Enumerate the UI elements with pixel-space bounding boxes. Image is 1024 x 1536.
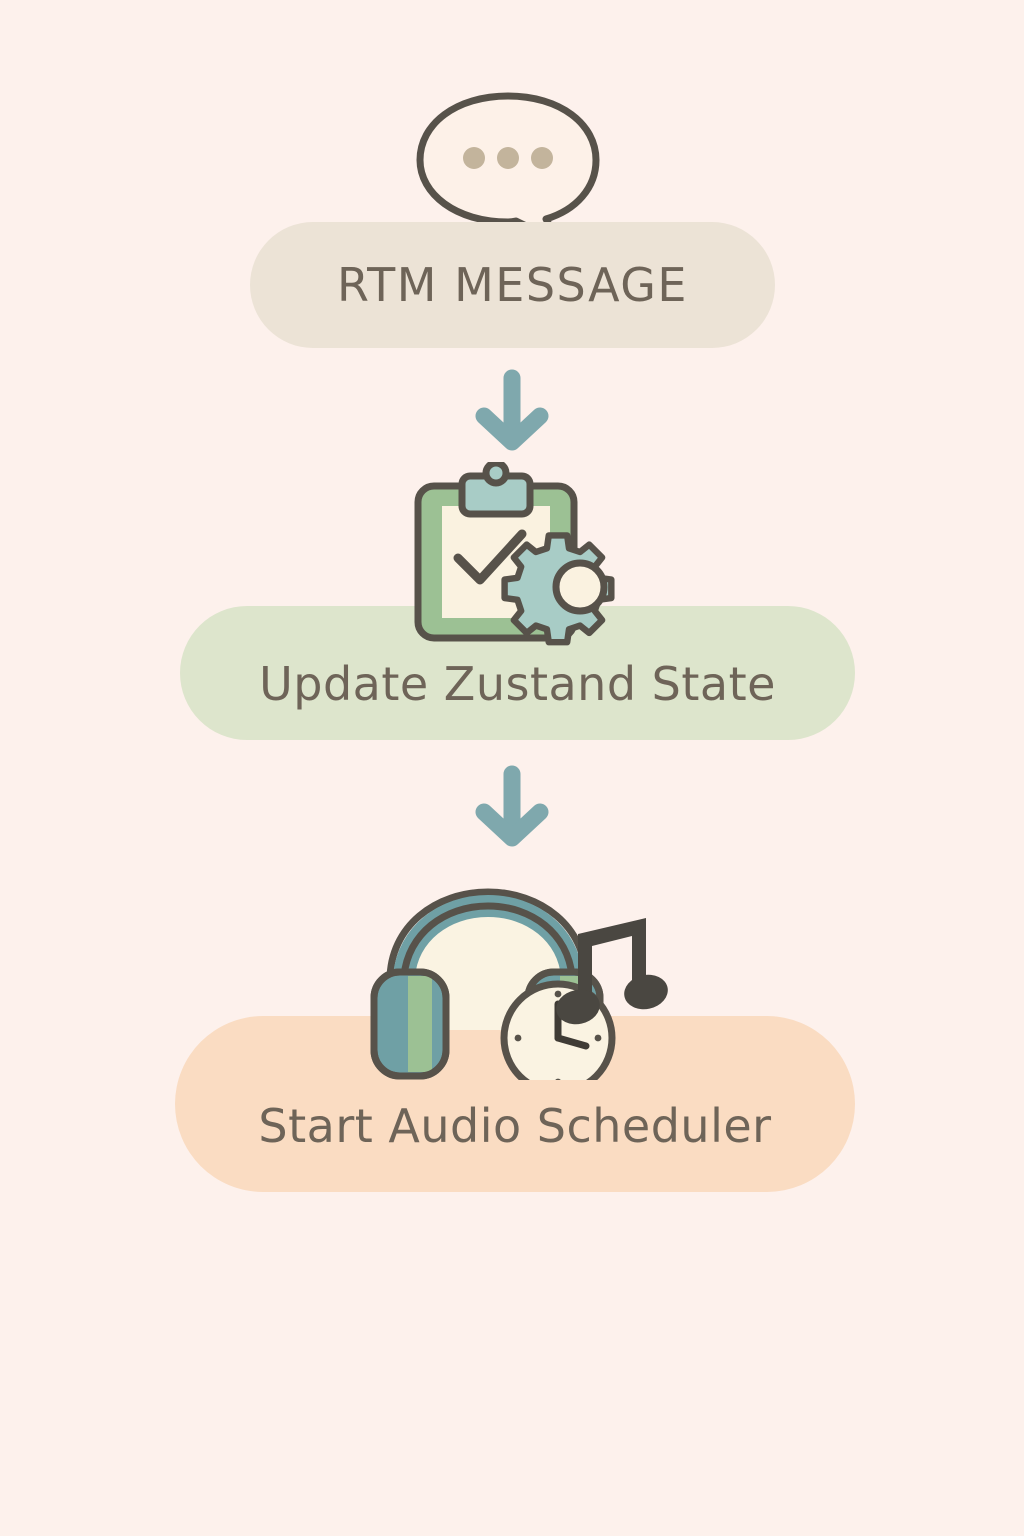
node-rtm-message-label: RTM MESSAGE [337, 262, 688, 308]
node-rtm-message[interactable]: RTM MESSAGE [250, 222, 775, 348]
node-update-zustand-state-label: Update Zustand State [259, 661, 776, 707]
flowchart: RTM MESSAGE Update Zustand State [0, 0, 1024, 1536]
headphones-clock-music-icon [360, 880, 670, 1084]
speech-bubble-icon [408, 88, 608, 242]
node-start-audio-scheduler-label: Start Audio Scheduler [258, 1103, 771, 1149]
arrow-down-zustand-to-scheduler [462, 764, 562, 858]
arrow-down-rtm-to-zustand [462, 368, 562, 462]
clipboard-check-gear-icon [404, 462, 634, 656]
